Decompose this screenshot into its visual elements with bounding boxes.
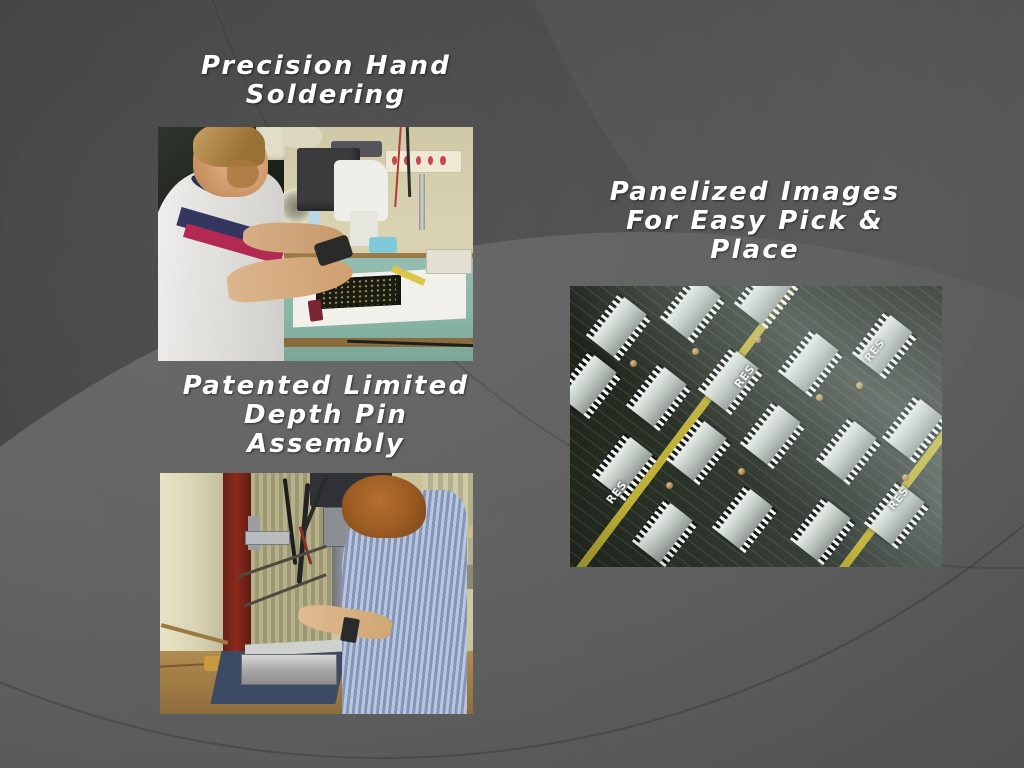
metal-pole xyxy=(419,174,425,230)
photo-panelized-boards: RES RES RES RES xyxy=(570,286,942,567)
red-door-jamb xyxy=(223,473,251,661)
pcb-vignette xyxy=(570,286,942,567)
operator-hair xyxy=(342,475,427,538)
wall-bracket xyxy=(245,531,291,545)
microscope-base xyxy=(369,237,397,253)
bench-accessory-box xyxy=(426,249,472,274)
pin-assembly-fixture xyxy=(241,654,337,685)
presentation-slide: Precision Hand Soldering Patented Limite… xyxy=(0,0,1024,768)
technician-hair xyxy=(193,127,265,167)
photo-pin-assembly xyxy=(160,473,473,714)
heading-precision-hand-soldering: Precision Hand Soldering xyxy=(126,52,526,110)
photo-hand-soldering xyxy=(158,127,473,361)
technician-beard xyxy=(227,160,259,188)
heading-patented-limited-depth-pin-assembly: Patented Limited Depth Pin Assembly xyxy=(126,372,526,459)
wall-duct-elbow xyxy=(281,127,322,148)
heading-panelized-images-for-easy-pick-and-place: Panelized Images For Easy Pick & Place xyxy=(560,178,950,265)
